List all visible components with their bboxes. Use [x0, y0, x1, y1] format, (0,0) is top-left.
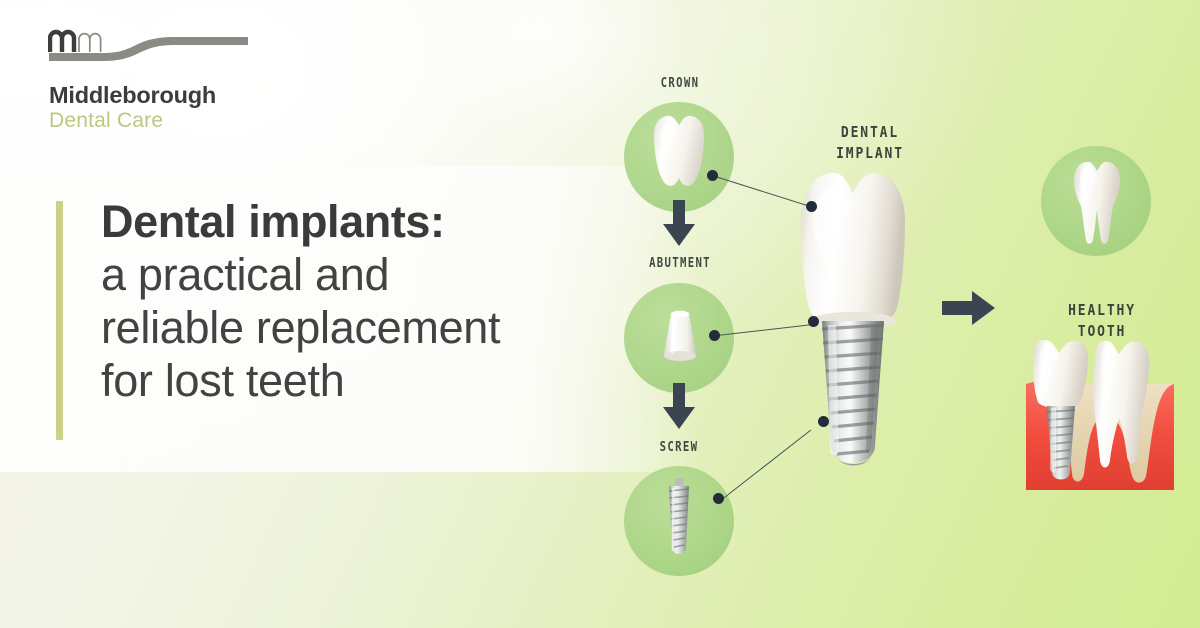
arrow-right-icon: [942, 290, 996, 326]
headline-line-3: reliable replacement: [101, 302, 621, 355]
headline-line-2: a practical and: [101, 249, 621, 302]
brand-logo[interactable]: Middleborough Dental Care: [48, 26, 268, 116]
leader-dot-crown-target: [806, 201, 817, 212]
whole-tooth-circle: [1041, 146, 1151, 256]
dental-implant-label-line-2: IMPLANT: [811, 143, 929, 164]
dental-implant-label-line-1: DENTAL: [811, 122, 929, 143]
banner-root: Middleborough Dental Care Dental implant…: [0, 0, 1200, 628]
healthy-tooth-label-line-1: HEALTHY: [1043, 300, 1161, 321]
accent-bar: [56, 201, 63, 440]
healthy-tooth-label-line-2: TOOTH: [1043, 321, 1161, 342]
headline-line-1: Dental implants:: [101, 196, 621, 249]
implant-screw-icon: [661, 478, 697, 564]
leader-dot-screw-target: [818, 416, 829, 427]
dental-implant-label: DENTAL IMPLANT: [811, 122, 929, 164]
leader-dot-abutment-source: [709, 330, 720, 341]
dental-implant-icon: [783, 163, 923, 493]
leader-line-crown: [712, 175, 814, 208]
step-label-crown: CROWN: [631, 76, 729, 91]
healthy-tooth-label: HEALTHY TOOTH: [1043, 300, 1161, 342]
headline-line-4: for lost teeth: [101, 355, 621, 408]
whole-tooth-icon: [1068, 160, 1126, 246]
headline-block: Dental implants: a practical and reliabl…: [101, 196, 621, 408]
leader-line-abutment: [717, 324, 817, 337]
leader-dot-abutment-target: [808, 316, 819, 327]
step-circle-screw: [624, 466, 734, 576]
leader-line-screw: [722, 430, 812, 501]
brand-subtitle: Dental Care: [49, 110, 163, 131]
healthy-tooth-crosssection-icon: [1020, 338, 1180, 490]
leader-dot-screw-source: [713, 493, 724, 504]
brand-name: Middleborough: [49, 84, 216, 108]
background-glow-secondary: [330, 0, 750, 180]
toothbrush-icon: [48, 26, 248, 66]
leader-dot-crown-source: [707, 170, 718, 181]
